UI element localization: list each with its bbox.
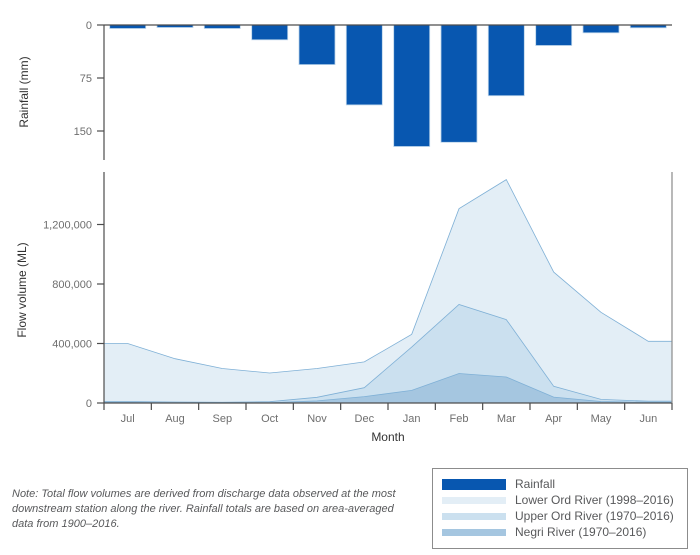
month-tick-label-dec: Dec	[355, 413, 375, 425]
rainfall-y-ticks: 075150	[74, 20, 104, 138]
rainfall-bar-apr	[536, 25, 572, 46]
legend-row-lower[interactable]: Lower Ord River (1998–2016)	[442, 492, 678, 508]
chart-legend: RainfallLower Ord River (1998–2016)Upper…	[432, 468, 688, 549]
rainfall-panel: 075150 Rainfall (mm)	[17, 20, 672, 160]
rainfall-axis-title: Rainfall (mm)	[17, 56, 31, 127]
flow-y-ticks: 0400,000800,0001,200,000	[43, 220, 104, 411]
rainfall-tick-label: 150	[74, 126, 92, 138]
rainfall-bar-dec	[346, 25, 382, 105]
legend-label: Upper Ord River (1970–2016)	[515, 508, 674, 524]
rainfall-bar-may	[583, 25, 619, 33]
rainfall-bar-mar	[488, 25, 524, 96]
flow-axis-title: Flow volume (ML)	[15, 242, 29, 337]
rainfall-tick-label: 75	[80, 73, 92, 85]
month-tick-label-feb: Feb	[450, 413, 469, 425]
chart-page: 075150 Rainfall (mm) 0400,000800,0001,20…	[0, 0, 700, 555]
flow-tick-label: 800,000	[52, 279, 92, 291]
rainfall-bars	[110, 25, 667, 147]
flow-tick-label: 1,200,000	[43, 220, 92, 232]
month-tick-label-nov: Nov	[307, 413, 327, 425]
rainfall-bar-nov	[299, 25, 335, 65]
month-tick-label-oct: Oct	[261, 413, 278, 425]
chart-note: Note: Total flow volumes are derived fro…	[12, 487, 407, 532]
legend-label: Rainfall	[515, 476, 555, 492]
month-tick-label-jan: Jan	[403, 413, 421, 425]
legend-swatch-icon	[442, 513, 506, 520]
month-tick-label-may: May	[591, 413, 612, 425]
legend-swatch-icon	[442, 479, 506, 490]
flow-tick-label: 400,000	[52, 339, 92, 351]
month-axis-title: Month	[371, 430, 404, 444]
rainfall-bar-jan	[394, 25, 430, 147]
legend-row-negri[interactable]: Negri River (1970–2016)	[442, 524, 678, 540]
rainfall-bar-oct	[252, 25, 288, 40]
legend-row-upper[interactable]: Upper Ord River (1970–2016)	[442, 508, 678, 524]
flow-area-series	[104, 180, 672, 403]
legend-swatch-icon	[442, 529, 506, 536]
flow-tick-label: 0	[86, 398, 92, 410]
flow-x-ticks: JulAugSepOctNovDecJanFebMarAprMayJun	[104, 403, 672, 425]
legend-label: Lower Ord River (1998–2016)	[515, 492, 674, 508]
flow-panel: 0400,000800,0001,200,000 JulAugSepOctNov…	[15, 172, 672, 444]
legend-swatch-icon	[442, 497, 506, 504]
rainfall-tick-label: 0	[86, 20, 92, 32]
month-tick-label-aug: Aug	[165, 413, 185, 425]
month-tick-label-apr: Apr	[545, 413, 562, 425]
combined-chart: 075150 Rainfall (mm) 0400,000800,0001,20…	[0, 0, 700, 460]
rainfall-bar-feb	[441, 25, 477, 142]
legend-label: Negri River (1970–2016)	[515, 524, 646, 540]
legend-row-rainfall[interactable]: Rainfall	[442, 476, 678, 492]
month-tick-label-mar: Mar	[497, 413, 516, 425]
month-tick-label-jun: Jun	[639, 413, 657, 425]
month-tick-label-jul: Jul	[121, 413, 135, 425]
month-tick-label-sep: Sep	[213, 413, 233, 425]
